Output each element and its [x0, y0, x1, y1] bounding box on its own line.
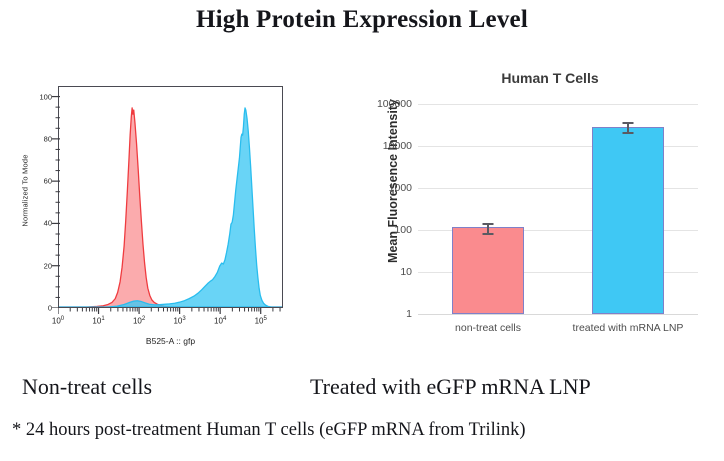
bar-treated-mrna-lnp [592, 127, 664, 314]
histogram-area-treated [59, 108, 282, 307]
flow-x-tick: 103 [173, 316, 185, 326]
bar-non-treat-cells [452, 227, 524, 314]
flow-x-tick: 102 [133, 316, 145, 326]
flow-y-tick: 40 [26, 219, 52, 228]
flow-x-tick: 101 [92, 316, 104, 326]
bar-y-tick: 100 [394, 224, 412, 236]
flow-y-tick: 20 [26, 261, 52, 270]
flow-x-tickmarks [58, 308, 283, 316]
bar-y-tick: 1000 [389, 182, 412, 194]
flow-y-tick: 80 [26, 134, 52, 143]
flow-plot-area [58, 86, 283, 308]
flow-y-tick: 0 [26, 304, 52, 313]
error-bar-cap [483, 223, 494, 225]
bar-y-tick: 1 [406, 308, 412, 320]
caption-non-treat: Non-treat cells [22, 374, 152, 400]
flow-y-tick: 60 [26, 177, 52, 186]
bar-gridline [418, 104, 698, 105]
flow-histogram-svg [59, 87, 282, 307]
flow-x-tick: 105 [255, 316, 267, 326]
bar-y-tick: 10000 [383, 140, 412, 152]
flow-y-tick: 100 [26, 92, 52, 101]
error-bar-cap [483, 233, 494, 235]
flow-x-axis-ticks: 100101102103104105 [58, 308, 283, 334]
error-bar-cap [623, 122, 634, 124]
flow-cytometry-panel: Normalized To Mode 020406080100 10010110… [8, 78, 304, 356]
bar-plot-area: 110100100010000100000non-treat cellstrea… [418, 104, 698, 314]
flow-x-tick: 104 [214, 316, 226, 326]
bar-chart-title: Human T Cells [390, 70, 710, 86]
bar-gridline [418, 314, 698, 315]
bar-chart-panel: Human T Cells Mean Fluoresence Intensity… [360, 66, 716, 354]
flow-x-axis-label: B525-A :: gfp [58, 336, 283, 346]
flow-y-axis-ticks: 020406080100 [26, 86, 52, 308]
flow-x-tick: 100 [52, 316, 64, 326]
flow-y-tickmarks [52, 86, 60, 308]
bar-y-axis-label: Mean Fluoresence Intensity [386, 96, 400, 266]
bar-x-label: treated with mRNA LNP [573, 322, 684, 334]
page-title: High Protein Expression Level [0, 6, 724, 34]
figure-footnote: * 24 hours post-treatment Human T cells … [12, 420, 526, 441]
bar-x-label: non-treat cells [455, 322, 521, 334]
bar-y-tick: 10 [400, 266, 412, 278]
error-bar-cap [623, 132, 634, 134]
bar-y-tick: 100000 [377, 98, 412, 110]
caption-treated: Treated with eGFP mRNA LNP [310, 374, 591, 400]
